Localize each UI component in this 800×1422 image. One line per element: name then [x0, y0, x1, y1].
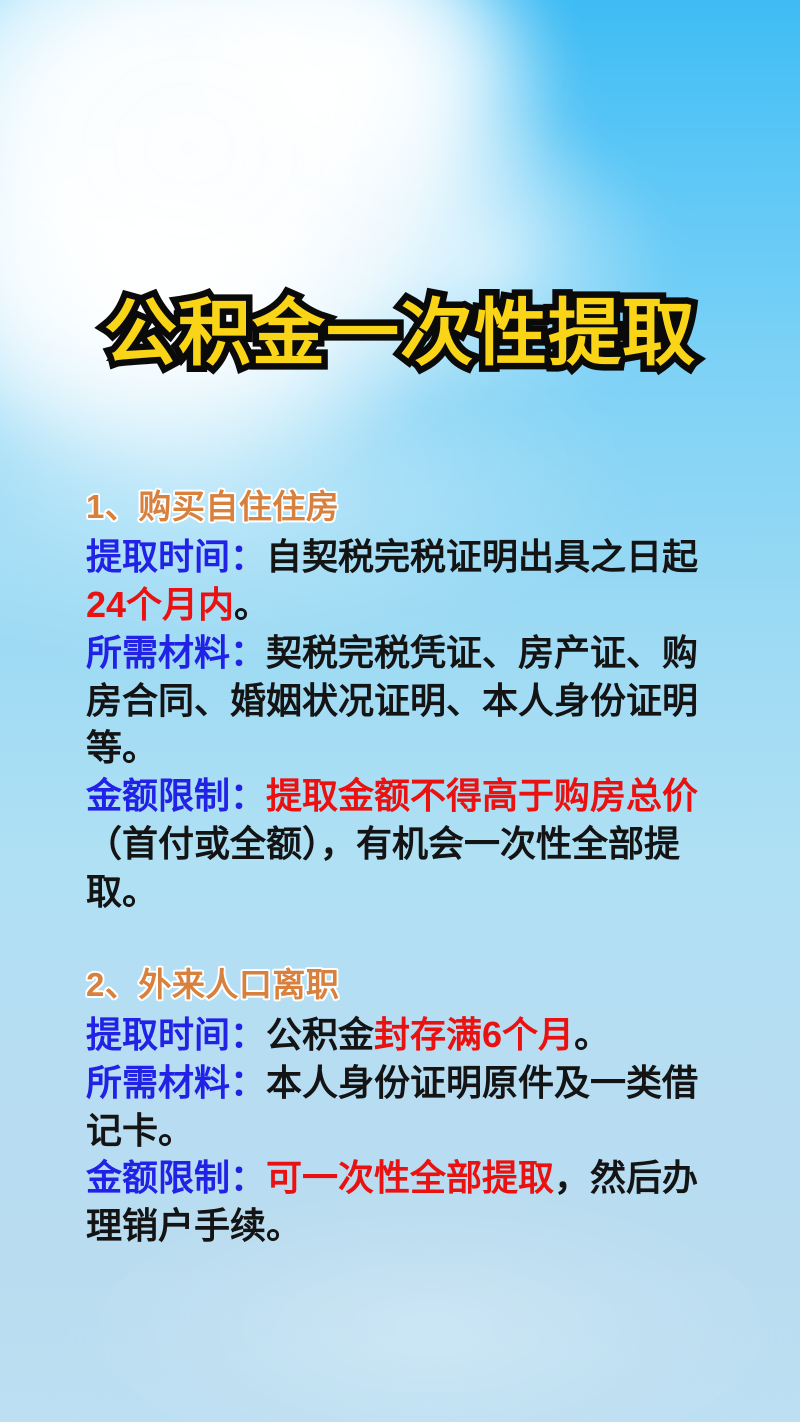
- detail-row-label: 提取时间：: [86, 1014, 266, 1055]
- content-section: 1、购买自住住房提取时间：自契税完税证明出具之日起24个月内。所需材料：契税完税…: [86, 486, 706, 916]
- detail-row-highlight-text: 提取金额不得高于购房总价: [266, 775, 698, 816]
- cloud-shape-puff-top: [150, 0, 570, 250]
- detail-row: 金额限制：提取金额不得高于购房总价（首付或全额），有机会一次性全部提取。: [86, 772, 706, 916]
- cloud-shape-main: [0, 0, 600, 470]
- section-heading: 1、购买自住住房: [86, 486, 706, 529]
- detail-row-label: 金额限制：: [86, 1157, 266, 1198]
- page-title: 公积金一次性提取: [104, 296, 696, 373]
- detail-row: 提取时间：自契税完税证明出具之日起24个月内。: [86, 533, 706, 629]
- detail-row-label: 所需材料：: [86, 1062, 266, 1103]
- detail-row-label: 所需材料：: [86, 632, 266, 673]
- detail-row-text: 自契税完税证明出具之日起: [266, 536, 698, 577]
- content-section: 2、外来人口离职提取时间：公积金封存满6个月。所需材料：本人身份证明原件及一类借…: [86, 964, 706, 1250]
- detail-row-text: 公积金: [266, 1014, 374, 1055]
- detail-row: 提取时间：公积金封存满6个月。: [86, 1011, 706, 1059]
- detail-row-text: 。: [574, 1014, 610, 1055]
- detail-row-highlight-text: 封存满6个月: [374, 1014, 574, 1055]
- detail-row-text: （首付或全额），有机会一次性全部提取。: [86, 823, 680, 912]
- detail-row-highlight-text: 可一次性全部提取: [266, 1157, 554, 1198]
- poster-canvas: 公积金一次性提取 1、购买自住住房提取时间：自契税完税证明出具之日起24个月内。…: [0, 0, 800, 1422]
- section-heading: 2、外来人口离职: [86, 964, 706, 1007]
- content-body: 1、购买自住住房提取时间：自契税完税证明出具之日起24个月内。所需材料：契税完税…: [86, 486, 706, 1250]
- cloud-shape-puff-right: [330, 120, 710, 420]
- detail-row: 金额限制：可一次性全部提取，然后办理销户手续。: [86, 1154, 706, 1250]
- detail-row-highlight-text: 24个月内: [86, 584, 234, 625]
- detail-row-text: 。: [234, 584, 270, 625]
- detail-row: 所需材料：本人身份证明原件及一类借记卡。: [86, 1059, 706, 1155]
- detail-row-label: 提取时间：: [86, 536, 266, 577]
- detail-row: 所需材料：契税完税凭证、房产证、购房合同、婚姻状况证明、本人身份证明等。: [86, 629, 706, 773]
- detail-row-label: 金额限制：: [86, 775, 266, 816]
- title-container: 公积金一次性提取: [0, 296, 800, 373]
